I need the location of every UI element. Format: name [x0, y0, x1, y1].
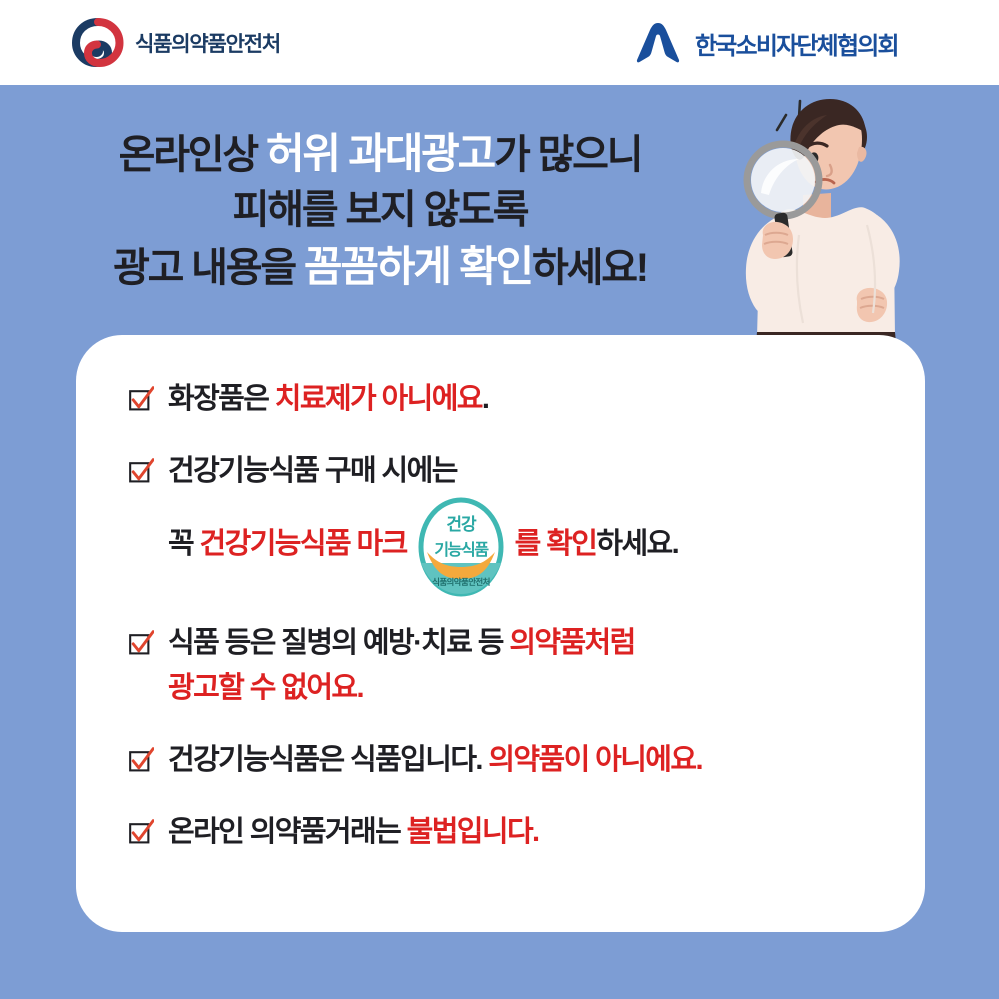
taeguk-icon — [72, 18, 124, 68]
logo-kncco: 한국소비자단체협의회 — [632, 18, 898, 68]
list-item: 건강기능식품 구매 시에는 꼭 건강기능식품 마크 건강 — [128, 449, 895, 595]
list-item: 화장품은 치료제가 아니에요. — [128, 377, 895, 423]
svg-text:식품의약품안전처: 식품의약품안전처 — [432, 577, 490, 587]
list-item-text: 식품 등은 질병의 예방·치료 등 의약품처럼 광고할 수 없어요. — [168, 621, 635, 713]
item4-seg2: 의약품이 아니에요. — [488, 744, 702, 776]
checkbox-checked-icon — [128, 747, 154, 773]
checkbox-checked-icon — [128, 386, 154, 412]
item5-seg2: 불법입니다. — [407, 816, 539, 848]
list-item-text: 건강기능식품 구매 시에는 꼭 건강기능식품 마크 건강 — [168, 449, 678, 595]
item3-seg2: 의약품처럼 — [509, 627, 634, 659]
headline-l1-a: 온라인상 — [119, 133, 266, 177]
item3-seg1: 식품 등은 질병의 예방·치료 등 — [168, 627, 509, 659]
item2-line2: 꼭 건강기능식품 마크 건강 기능식품 식품의약품안전처 — [168, 495, 678, 595]
headline-l1-b: 가 많으니 — [494, 133, 641, 177]
headline-line-2: 피해를 보지 않도록 — [0, 183, 760, 238]
checklist-card: 화장품은 치료제가 아니에요. 건강기능식품 구매 시에는 — [76, 335, 925, 932]
chevron-icon — [632, 18, 684, 68]
item2-seg1: 꼭 — [168, 528, 200, 560]
logo-mfds-label: 식품의약품안전처 — [135, 28, 280, 58]
checklist: 화장품은 치료제가 아니에요. 건강기능식품 구매 시에는 — [128, 377, 895, 856]
headline-line-3: 광고 내용을 꼼꼼하게 확인하세요! — [0, 238, 760, 296]
item2-seg3: 를 확인 — [515, 528, 597, 560]
headline: 온라인상 허위 과대광고가 많으니 피해를 보지 않도록 광고 내용을 꼼꼼하게… — [0, 125, 760, 297]
list-item: 식품 등은 질병의 예방·치료 등 의약품처럼 광고할 수 없어요. — [128, 621, 895, 713]
list-item: 온라인 의약품거래는 불법입니다. — [128, 810, 895, 856]
headline-l3-b: 하세요! — [532, 246, 647, 290]
item5-seg1: 온라인 의약품거래는 — [168, 816, 407, 848]
checkbox-checked-icon — [128, 819, 154, 845]
header-bar: 식품의약품안전처 한국소비자단체협의회 — [0, 0, 999, 85]
svg-text:건강: 건강 — [446, 515, 477, 534]
headline-line-1: 온라인상 허위 과대광고가 많으니 — [0, 125, 760, 183]
list-item-text: 건강기능식품은 식품입니다. 의약품이 아니에요. — [168, 738, 702, 784]
item2-line1: 건강기능식품 구매 시에는 — [168, 455, 457, 487]
headline-l3-highlight: 꼼꼼하게 확인 — [304, 243, 532, 290]
checkbox-checked-icon — [128, 458, 154, 484]
item1-seg3: . — [482, 383, 488, 415]
infographic-page: 식품의약품안전처 한국소비자단체협의회 온라인상 허위 과대광고가 많으니 피해… — [0, 0, 999, 999]
health-functional-food-mark: 건강 기능식품 식품의약품안전처 — [415, 497, 507, 597]
item2-seg4: 하세요. — [596, 528, 678, 560]
main-body: 온라인상 허위 과대광고가 많으니 피해를 보지 않도록 광고 내용을 꼼꼼하게… — [0, 85, 999, 999]
item1-seg1: 화장품은 — [168, 383, 275, 415]
list-item-text: 온라인 의약품거래는 불법입니다. — [168, 810, 539, 856]
item3-line2: 광고할 수 없어요. — [168, 666, 635, 712]
list-item: 건강기능식품은 식품입니다. 의약품이 아니에요. — [128, 738, 895, 784]
list-item-text: 화장품은 치료제가 아니에요. — [168, 377, 488, 423]
svg-text:기능식품: 기능식품 — [434, 541, 489, 559]
logo-kncco-label: 한국소비자단체협의회 — [695, 26, 898, 61]
item4-seg1: 건강기능식품은 식품입니다. — [168, 744, 488, 776]
item1-seg2: 치료제가 아니에요 — [275, 383, 482, 415]
headline-l1-highlight: 허위 과대광고 — [266, 130, 494, 177]
item2-seg2: 건강기능식품 마크 — [200, 528, 407, 560]
checkbox-checked-icon — [128, 630, 154, 656]
logo-mfds: 식품의약품안전처 — [72, 18, 280, 68]
headline-l3-a: 광고 내용을 — [113, 246, 304, 290]
